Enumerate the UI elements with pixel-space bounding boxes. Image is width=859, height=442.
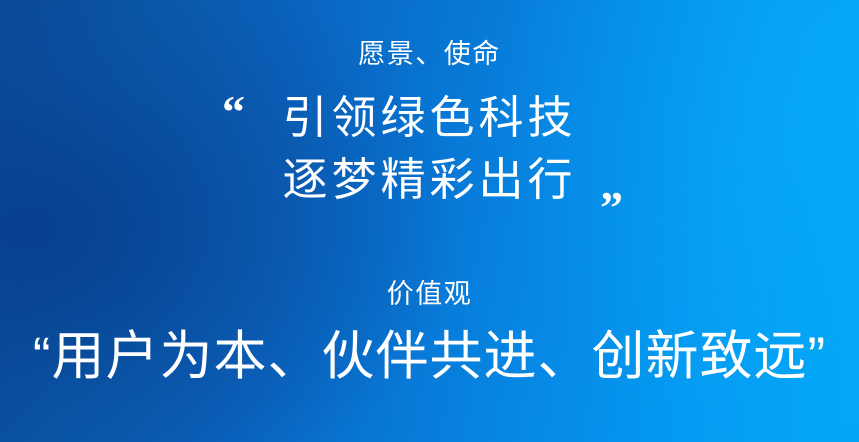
vision-mission-label: 愿景、使命 <box>0 41 859 68</box>
vision-mission-values-slide: 愿景、使命 “ 引领绿色科技 逐梦精彩出行 ” 价值观 “用户为本、伙伴共进、创… <box>0 0 859 442</box>
values-statement: “用户为本、伙伴共进、创新致远” <box>0 324 859 390</box>
vision-quote-line-1: 引领绿色科技 <box>0 87 859 149</box>
vision-quote-block: “ 引领绿色科技 逐梦精彩出行 ” <box>0 87 859 211</box>
opening-quote-mark: “ <box>222 89 245 135</box>
slide-content: 愿景、使命 “ 引领绿色科技 逐梦精彩出行 ” 价值观 “用户为本、伙伴共进、创… <box>0 0 859 442</box>
values-section: 价值观 “用户为本、伙伴共进、创新致远” <box>0 281 859 390</box>
values-label: 价值观 <box>0 281 859 308</box>
closing-quote-mark: ” <box>600 185 623 231</box>
vision-mission-section: 愿景、使命 “ 引领绿色科技 逐梦精彩出行 ” <box>0 41 859 211</box>
vision-quote-line-2: 逐梦精彩出行 <box>0 149 859 211</box>
